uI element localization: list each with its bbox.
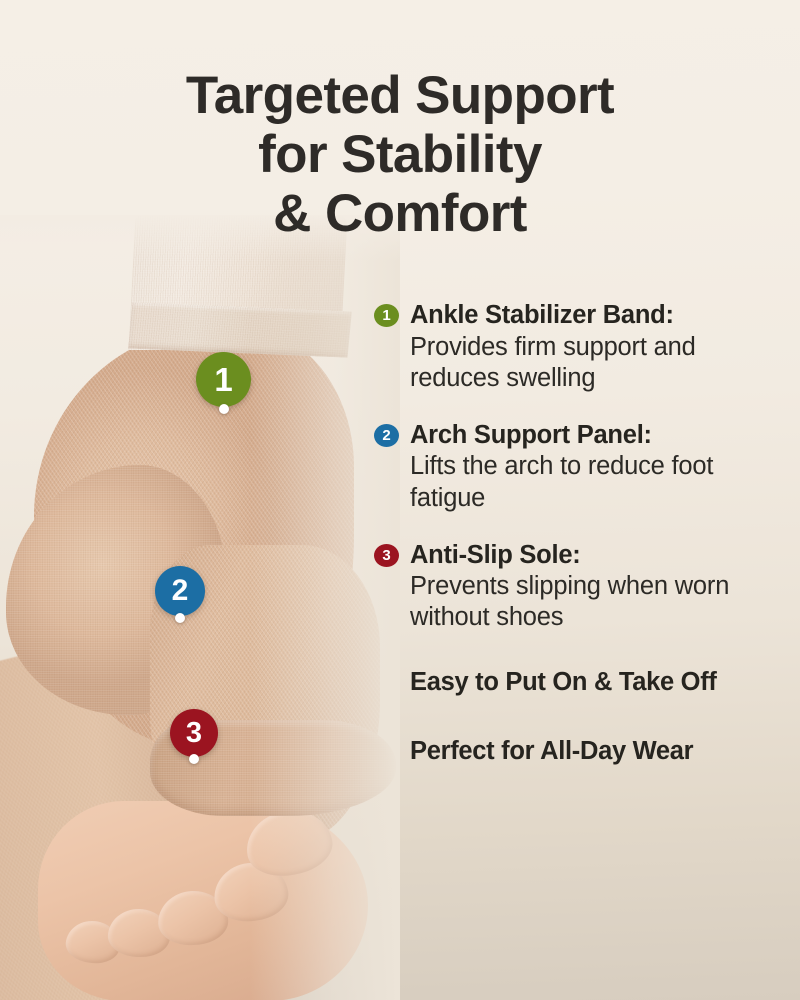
infographic-poster: 1 2 3 Targeted Support for Stability & C…: [0, 0, 800, 1000]
feature-badge-1: 1: [374, 304, 399, 327]
callout-pin-1[interactable]: 1: [196, 352, 251, 407]
feature-heading: 2 Arch Support Panel:: [374, 420, 786, 451]
page-title-line-1: Targeted Support: [0, 66, 800, 125]
page-title-line-2: for Stability: [0, 125, 800, 184]
stabilizer-band: [128, 302, 352, 357]
feature-item: 3 Anti-Slip Sole: Prevents slipping when…: [374, 540, 786, 634]
feature-title: Arch Support Panel:: [410, 420, 652, 451]
callout-pointer-dot: [175, 613, 185, 623]
feature-description: Prevents slipping when worn without shoe…: [410, 571, 786, 633]
feature-heading: 3 Anti-Slip Sole:: [374, 540, 786, 571]
feature-heading: 1 Ankle Stabilizer Band:: [374, 300, 786, 331]
knit-texture: [128, 302, 352, 357]
page-title-line-3: & Comfort: [0, 184, 800, 243]
feature-item: 1 Ankle Stabilizer Band: Provides firm s…: [374, 300, 786, 394]
callout-pin-3[interactable]: 3: [170, 709, 218, 757]
callout-pin-2[interactable]: 2: [155, 566, 205, 616]
feature-badge-3: 3: [374, 544, 399, 567]
page-title: Targeted Support for Stability & Comfort: [0, 66, 800, 244]
feature-list: 1 Ankle Stabilizer Band: Provides firm s…: [374, 300, 786, 766]
callout-pointer-dot: [189, 754, 199, 764]
feature-item: 2 Arch Support Panel: Lifts the arch to …: [374, 420, 786, 514]
feature-badge-2: 2: [374, 424, 399, 447]
feature-description: Provides firm support and reduces swelli…: [410, 332, 786, 394]
callout-number-2: 2: [155, 566, 205, 616]
feature-title: Anti-Slip Sole:: [410, 540, 581, 571]
feature-description: Lifts the arch to reduce foot fatigue: [410, 451, 786, 513]
feature-title: Ankle Stabilizer Band:: [410, 300, 674, 331]
benefit-item-all-day-wear: Perfect for All-Day Wear: [410, 736, 786, 766]
callout-number-3: 3: [170, 709, 218, 757]
callout-pointer-dot: [219, 404, 229, 414]
callout-number-1: 1: [196, 352, 251, 407]
benefit-item-easy-to-put-on: Easy to Put On & Take Off: [410, 667, 786, 697]
